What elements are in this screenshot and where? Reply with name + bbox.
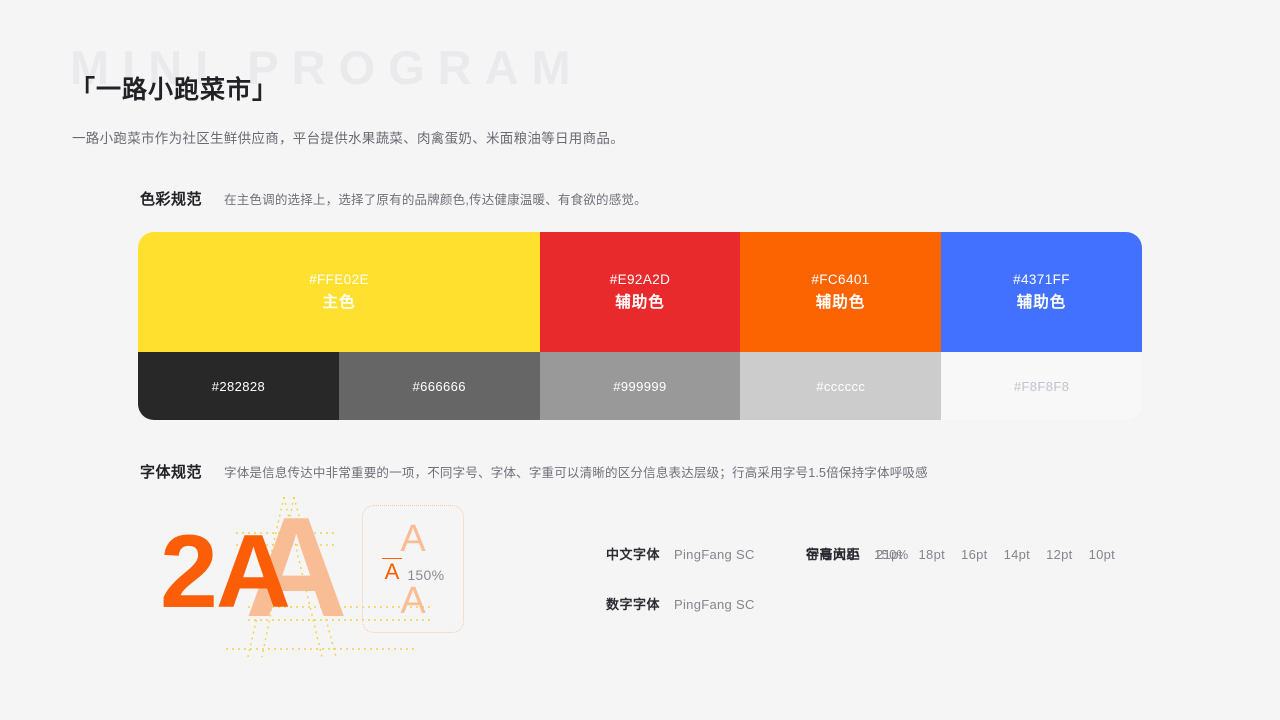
swatch-hex-label: #FC6401 (811, 270, 869, 291)
color-section-heading: 色彩规范 在主色调的选择上，选择了原有的品牌颜色,传达健康温暖、有食欲的感觉。 (140, 188, 647, 209)
font-spec-table: 中文字体 PingFang SC 字号大小 21pt18pt16pt14pt12… (606, 544, 1126, 644)
gray-swatch: #282828 (138, 352, 339, 420)
glyph-sample-group: A 2A (160, 497, 370, 647)
type-section-title: 字体规范 (140, 461, 202, 482)
page-description: 一路小跑菜市作为社区生鲜供应商，平台提供水果蔬菜、肉禽蛋奶、米面粮油等日用商品。 (72, 127, 624, 147)
typography-visual: A 2A A A 150% A (160, 497, 500, 647)
page-title: 「一路小跑菜市」 (70, 70, 278, 106)
swatch-hex-label: #282828 (212, 380, 265, 393)
color-swatch: #4371FF辅助色 (941, 232, 1142, 352)
cn-font-label: 中文字体 (606, 544, 660, 563)
swatch-hex-label: #F8F8F8 (1014, 380, 1070, 393)
gray-swatch: #F8F8F8 (941, 352, 1142, 420)
color-swatch: #FC6401辅助色 (740, 232, 941, 352)
lineheight-demo-box: A A 150% A (362, 505, 464, 633)
swatch-hex-label: #FFE02E (309, 270, 369, 291)
cn-font-value: PingFang SC (674, 547, 755, 562)
spec-row-num-font: 数字字体 PingFang SC 行高间距 150% (606, 594, 1126, 644)
lineheight-label: 行高间距 (806, 544, 860, 563)
gray-swatch: #666666 (339, 352, 540, 420)
color-section-title: 色彩规范 (140, 188, 202, 209)
swatch-role-label: 辅助色 (816, 291, 866, 314)
font-size-option: 14pt (1004, 547, 1031, 562)
swatch-hex-label: #cccccc (816, 380, 865, 393)
font-size-option: 12pt (1046, 547, 1073, 562)
palette-main-row: #FFE02E主色#E92A2D辅助色#FC6401辅助色#4371FF辅助色 (138, 232, 1142, 352)
font-size-option: 16pt (961, 547, 988, 562)
palette-gray-row: #282828#666666#999999#cccccc#F8F8F8 (138, 352, 1142, 420)
swatch-hex-label: #E92A2D (610, 270, 671, 291)
type-section-note: 字体是信息传达中非常重要的一项，不同字号、字体、字重可以清晰的区分信息表达层级；… (224, 462, 928, 481)
gray-swatch: #cccccc (740, 352, 941, 420)
color-swatch: #FFE02E主色 (138, 232, 540, 352)
font-size-option: 10pt (1089, 547, 1116, 562)
page-header: MINI PROGRAM 「一路小跑菜市」 一路小跑菜市作为社区生鲜供应商，平台… (70, 44, 1070, 164)
lineheight-letter-bottom: A (363, 582, 463, 620)
color-section-note: 在主色调的选择上，选择了原有的品牌颜色,传达健康温暖、有食欲的感觉。 (224, 189, 647, 208)
swatch-hex-label: #666666 (412, 380, 465, 393)
swatch-role-label: 辅助色 (1017, 291, 1067, 314)
num-font-label: 数字字体 (606, 594, 660, 613)
color-palette-card: #FFE02E主色#E92A2D辅助色#FC6401辅助色#4371FF辅助色 … (138, 232, 1142, 420)
swatch-hex-label: #999999 (613, 380, 666, 393)
lineheight-letter-mid: A (382, 558, 403, 583)
lineheight-value: 150% (874, 547, 908, 562)
num-font-value: PingFang SC (674, 597, 755, 612)
spec-lineheight-group: 行高间距 150% (806, 544, 908, 563)
swatch-hex-label: #4371FF (1013, 270, 1070, 291)
swatch-role-label: 主色 (322, 291, 355, 314)
type-section-heading: 字体规范 字体是信息传达中非常重要的一项，不同字号、字体、字重可以清晰的区分信息… (140, 461, 928, 482)
swatch-role-label: 辅助色 (615, 291, 665, 314)
glyph-sample-2a: 2A (160, 497, 289, 647)
font-size-option: 18pt (919, 547, 946, 562)
gray-swatch: #999999 (540, 352, 741, 420)
lineheight-letter-top: A (363, 520, 463, 558)
color-swatch: #E92A2D辅助色 (540, 232, 740, 352)
